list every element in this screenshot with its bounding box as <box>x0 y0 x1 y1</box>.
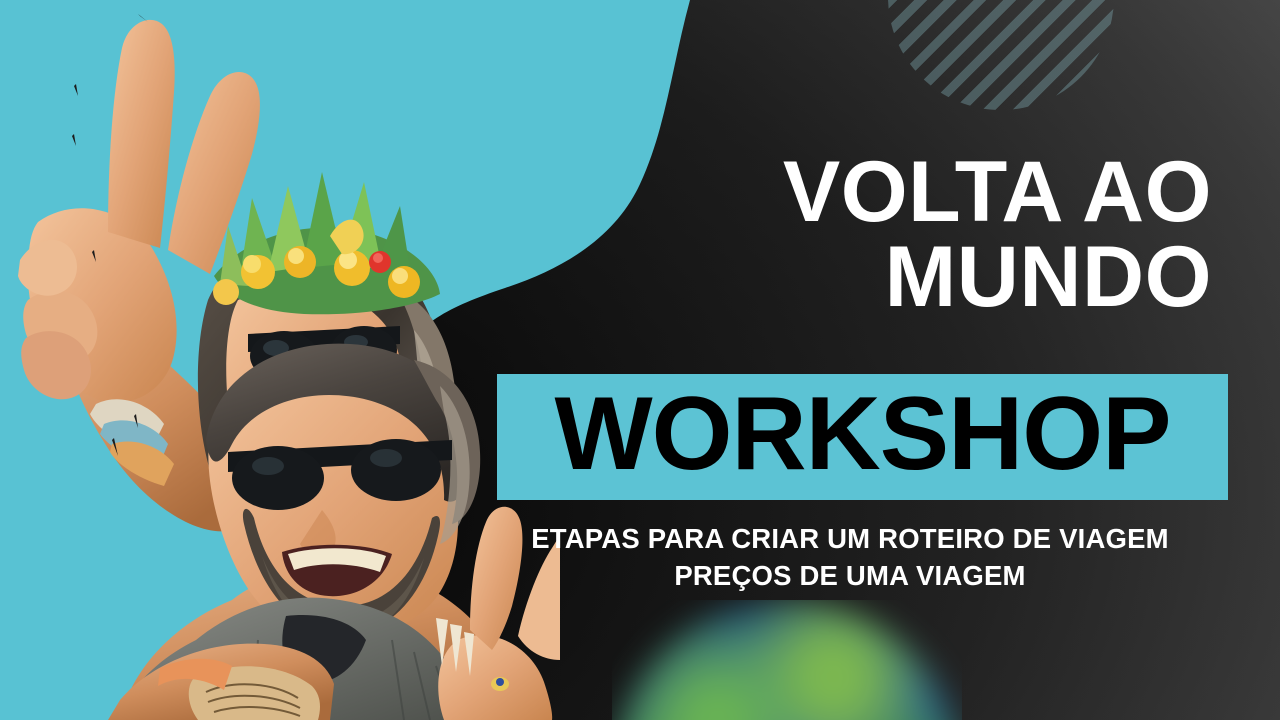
subtitle-line-1: ETAPAS PARA CRIAR UM ROTEIRO DE VIAGEM <box>470 521 1230 558</box>
workshop-banner: WORKSHOP <box>497 374 1228 500</box>
headline-block: VOLTA AO MUNDO <box>470 150 1230 320</box>
poster-canvas: VOLTA AO MUNDO WORKSHOP ETAPAS PARA CRIA… <box>0 0 1280 720</box>
headline-line-1: VOLTA AO <box>470 150 1230 235</box>
subtitle-line-2: PREÇOS DE UMA VIAGEM <box>470 558 1230 595</box>
couple-photo <box>0 0 560 720</box>
subtitle-block: ETAPAS PARA CRIAR UM ROTEIRO DE VIAGEM P… <box>470 521 1230 594</box>
workshop-banner-text: WORKSHOP <box>555 382 1171 486</box>
headline-line-2: MUNDO <box>470 235 1230 320</box>
